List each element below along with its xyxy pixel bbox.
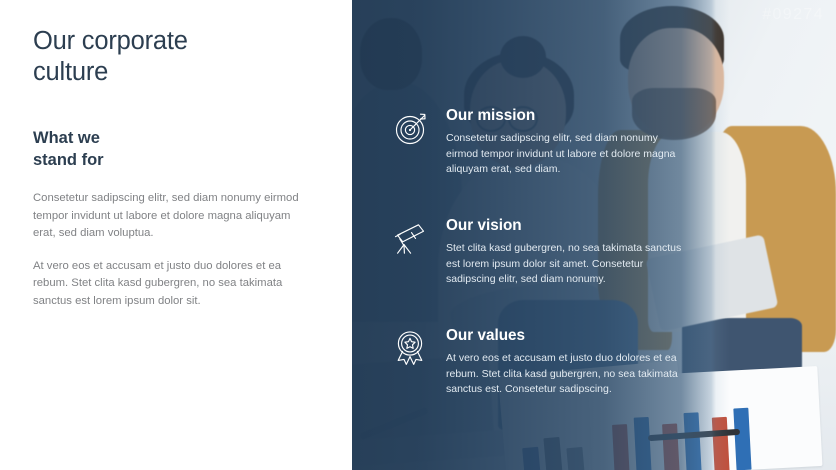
feature-item-mission: Our mission Consetetur sadipscing elitr,… (393, 106, 689, 178)
feature-body-values: At vero eos et accusam et justo duo dolo… (446, 351, 689, 398)
feature-title-mission: Our mission (446, 106, 689, 126)
feature-text-vision: Our vision Stet clita kasd gubergren, no… (446, 216, 689, 288)
feature-body-mission: Consetetur sadipscing elitr, sed diam no… (446, 131, 689, 178)
slide-root: Our corporate culture What we stand for … (0, 0, 836, 470)
body-paragraph-1: Consetetur sadipscing elitr, sed diam no… (33, 190, 305, 243)
page-title: Our corporate culture (33, 26, 320, 88)
target-icon (393, 108, 431, 148)
sub-heading: What we stand for (33, 127, 320, 171)
feature-text-mission: Our mission Consetetur sadipscing elitr,… (446, 106, 689, 178)
award-medal-icon (393, 328, 431, 368)
feature-title-values: Our values (446, 326, 689, 346)
right-image-panel: #09274 Our mission (352, 0, 836, 470)
feature-list: Our mission Consetetur sadipscing elitr,… (393, 0, 813, 470)
feature-text-values: Our values At vero eos et accusam et jus… (446, 326, 689, 398)
left-content-column: Our corporate culture What we stand for … (0, 0, 348, 470)
feature-body-vision: Stet clita kasd gubergren, no sea takima… (446, 241, 689, 288)
feature-item-values: Our values At vero eos et accusam et jus… (393, 326, 689, 398)
body-paragraph-2: At vero eos et accusam et justo duo dolo… (33, 258, 305, 311)
telescope-icon (393, 218, 431, 258)
feature-title-vision: Our vision (446, 216, 689, 236)
feature-item-vision: Our vision Stet clita kasd gubergren, no… (393, 216, 689, 288)
